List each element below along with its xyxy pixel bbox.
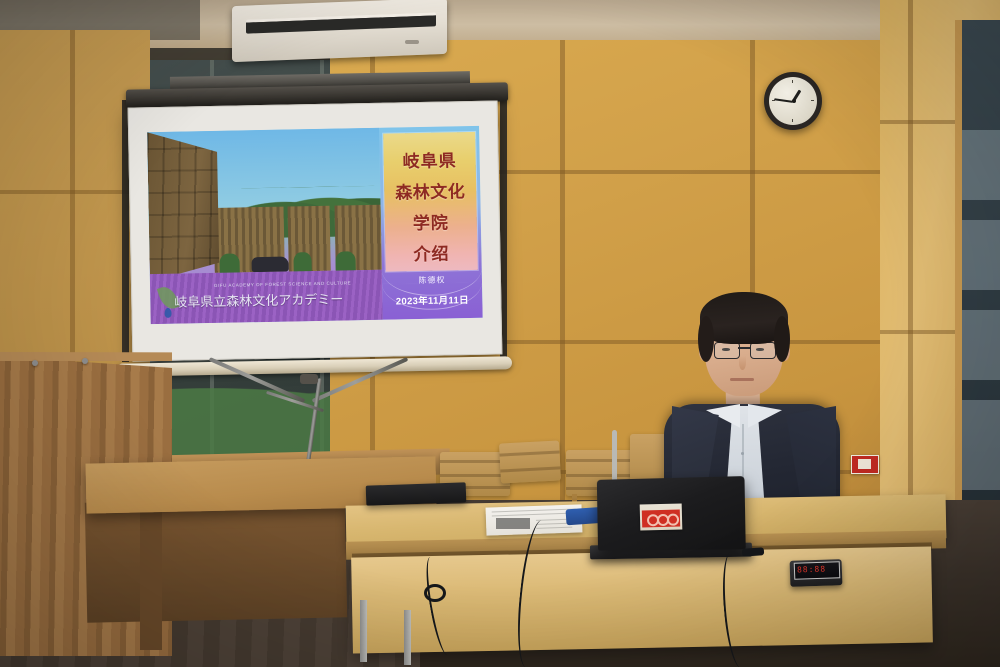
tripod-head xyxy=(300,374,318,384)
fire-alarm-sign-inner xyxy=(858,459,871,469)
clock-center-pin xyxy=(792,99,796,103)
fire-alarm-sign xyxy=(851,455,879,474)
desk-leg-left-2 xyxy=(404,610,411,665)
handout-photo xyxy=(496,518,530,529)
clock-face xyxy=(769,77,817,125)
glasses-lens-left xyxy=(714,342,740,359)
cable-coil xyxy=(424,584,446,602)
partition-knob-2 xyxy=(82,358,88,364)
presenter-nose xyxy=(739,356,746,370)
slide-title-line-2: 森林文化 xyxy=(384,177,476,204)
slide-presenter-name: 陈德权 xyxy=(390,274,474,287)
sticker-ring-3 xyxy=(667,514,679,526)
chair-stack-mid xyxy=(499,440,561,483)
slide-photo-car xyxy=(252,256,289,272)
glasses-lens-right xyxy=(750,342,776,359)
podium-front xyxy=(85,497,347,622)
partition-knob-1 xyxy=(32,360,38,366)
slide-title-panel: 岐阜県 森林文化 学院 介绍 xyxy=(383,132,478,272)
closed-tablet[interactable] xyxy=(366,482,467,505)
glasses-bridge xyxy=(738,347,750,349)
slide-photo-building xyxy=(147,131,219,282)
projected-slide: GIFU ACADEMY OF FOREST SCIENCE AND CULTU… xyxy=(147,126,483,324)
slide-title-line-1: 岐阜県 xyxy=(383,146,475,173)
presenter-mouth xyxy=(730,378,754,381)
slide-photo-building-louvers xyxy=(147,131,219,282)
slide-title-line-3: 学院 xyxy=(385,208,477,235)
lecture-room-photo: GIFU ACADEMY OF FOREST SCIENCE AND CULTU… xyxy=(0,0,1000,667)
shirt-button-1 xyxy=(741,452,744,455)
clock-minute-hand xyxy=(774,98,793,103)
presenter-hair-side-right xyxy=(774,316,790,362)
slide-logo-english: GIFU ACADEMY OF FOREST SCIENCE AND CULTU… xyxy=(214,280,351,288)
laptop-sticker xyxy=(642,510,680,528)
podium-leg xyxy=(140,505,162,650)
slide-logo-japanese: 岐阜県立森林文化アカデミー xyxy=(174,288,343,310)
presenter-hair-side-left xyxy=(698,316,714,362)
wall-clock xyxy=(764,72,822,130)
cable-plug xyxy=(742,547,765,557)
slide-logo: GIFU ACADEMY OF FOREST SCIENCE AND CULTU… xyxy=(156,276,357,320)
water-drop-icon xyxy=(164,308,171,318)
timer-value: 88:88 xyxy=(797,564,826,574)
air-conditioner-sensor xyxy=(405,40,419,44)
slide-date: 2023年11月11日 xyxy=(386,292,478,308)
projection-screen: GIFU ACADEMY OF FOREST SCIENCE AND CULTU… xyxy=(128,100,503,361)
desk-leg-left xyxy=(360,600,367,662)
slide-title-line-4: 介绍 xyxy=(385,239,477,266)
